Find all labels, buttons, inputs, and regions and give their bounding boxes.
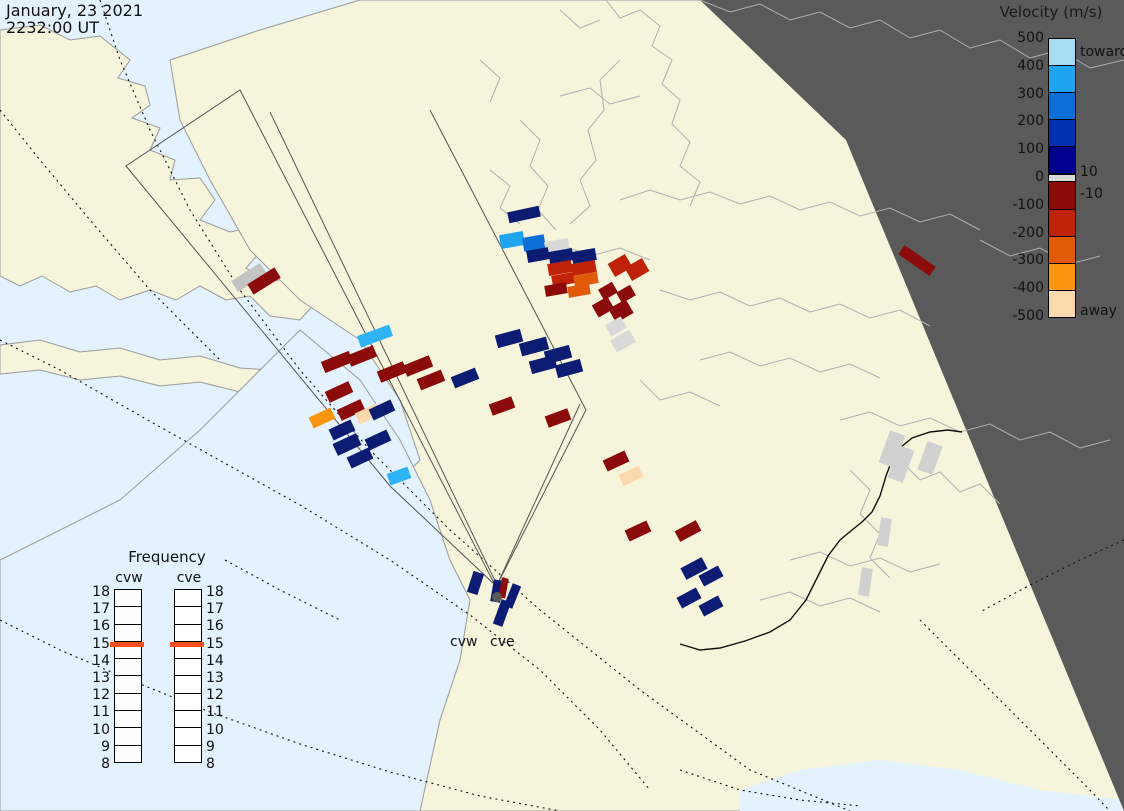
frequency-scale-cvw-10: 10 [90, 722, 110, 738]
frequency-cell [115, 590, 141, 607]
groundscatter-cell [178, 423, 217, 453]
colorbar-tick-300: 300 [986, 86, 1044, 102]
frequency-scale-cvw-11: 11 [90, 704, 110, 720]
groundscatter-cell [559, 395, 671, 436]
frequency-cell [175, 711, 201, 728]
frequency-scale-cvw-13: 13 [90, 670, 110, 686]
colorbar-plus10-label: 10 [1080, 164, 1098, 180]
frequency-scale-cve-15: 15 [206, 636, 224, 652]
frequency-cell [115, 607, 141, 624]
colorbar-tick--400: -400 [986, 280, 1044, 296]
velocity-cell [618, 466, 643, 486]
frequency-cell [175, 590, 201, 607]
velocity-cell [555, 359, 583, 378]
colorbar-segment-10 [1049, 291, 1075, 317]
frequency-bar-cve [174, 589, 202, 763]
frequency-cell [175, 728, 201, 745]
velocity-cell [325, 381, 354, 403]
groundscatter-cell [574, 538, 766, 584]
colorbar-segment-2 [1049, 93, 1075, 120]
colorbar-tick--100: -100 [986, 197, 1044, 213]
frequency-cell [175, 746, 201, 762]
timestamp-label: January, 23 2021 2232:00 UT [6, 2, 143, 36]
velocity-cell [698, 596, 723, 617]
frequency-scale-cve-12: 12 [206, 687, 224, 703]
colorbar-tick-200: 200 [986, 113, 1044, 129]
velocity-cell [877, 517, 892, 546]
frequency-cell [175, 607, 201, 624]
colorbar-segment-9 [1049, 264, 1075, 291]
colorbar-tick-0: 0 [986, 169, 1044, 185]
frequency-scale-cvw-17: 17 [90, 601, 110, 617]
frequency-scale-cve-17: 17 [206, 601, 224, 617]
frequency-column-cvw: cvw [114, 570, 144, 763]
frequency-marker-cve [170, 642, 204, 647]
velocity-cell [529, 355, 557, 374]
velocity-cell [369, 399, 396, 420]
groundscatter-cell [429, 329, 476, 359]
groundscatter-cell [758, 559, 775, 587]
velocity-cell [545, 408, 572, 427]
colorbar-segment-8 [1049, 237, 1075, 264]
frequency-cell [175, 676, 201, 693]
groundscatter-cell [714, 539, 728, 564]
colorbar-tick--200: -200 [986, 225, 1044, 241]
velocity-cell [858, 567, 873, 596]
groundscatter-cell [387, 327, 434, 357]
radar-label-cvw: cvw [450, 634, 477, 650]
radar-site-marker [492, 592, 502, 602]
frequency-scale-cvw-14: 14 [90, 653, 110, 669]
groundscatter-cell [554, 513, 771, 571]
frequency-cell [115, 728, 141, 745]
groundscatter-cell [733, 584, 748, 609]
velocity-cell [675, 520, 702, 542]
groundscatter-cell [803, 469, 821, 497]
frequency-cell [115, 746, 141, 762]
frequency-cell [115, 711, 141, 728]
groundscatter-cell [467, 544, 487, 574]
groundscatter-cell [821, 485, 839, 513]
frequency-scale-cvw-9: 9 [90, 739, 110, 755]
velocity-cell [387, 467, 412, 486]
velocity-colorbar-panel: Velocity (m/s) 5004003002001000-100-200-… [986, 0, 1124, 340]
groundscatter-cell [599, 411, 711, 459]
frequency-scale-cvw-15: 15 [90, 636, 110, 652]
groundscatter-cell [655, 606, 735, 626]
frequency-bar-cvw [114, 589, 142, 763]
velocity-cell [917, 441, 942, 475]
colorbar-segment-1 [1049, 66, 1075, 93]
frequency-cell [175, 659, 201, 676]
frequency-scale-cvw-16: 16 [90, 618, 110, 634]
groundscatter-cell [498, 544, 514, 573]
velocity-cell [625, 520, 652, 541]
frequency-cell [175, 694, 201, 711]
colorbar-tick-500: 500 [986, 30, 1044, 46]
groundscatter-cell [480, 435, 710, 520]
velocity-cell [357, 325, 393, 348]
frequency-scale-cve-11: 11 [206, 704, 224, 720]
groundscatter-cell [599, 560, 760, 597]
velocity-cell [507, 206, 541, 223]
velocity-cell [567, 283, 591, 298]
velocity-cell [499, 231, 525, 249]
groundscatter-cell [699, 515, 781, 568]
velocity-cell [451, 368, 480, 389]
velocity-cell [417, 370, 446, 391]
colorbar-title: Velocity (m/s) [986, 3, 1116, 21]
colorbar-tick-100: 100 [986, 141, 1044, 157]
frequency-cell [115, 625, 141, 642]
frequency-column-label-cve: cve [174, 570, 204, 586]
velocity-cell [526, 247, 550, 263]
groundscatter-cell [689, 480, 791, 537]
velocity-cell [365, 429, 392, 450]
frequency-marker-cvw [110, 642, 144, 647]
radar-label-cve: cve [490, 634, 515, 650]
colorbar-segment-7 [1049, 210, 1075, 237]
velocity-cell [489, 396, 516, 415]
colorbar-tick--300: -300 [986, 252, 1044, 268]
colorbar-segment-4 [1049, 147, 1075, 174]
velocity-cell [309, 407, 336, 428]
groundscatter-cell [362, 341, 539, 433]
frequency-scale-cve-9: 9 [206, 739, 215, 755]
colorbar-segment-5 [1049, 174, 1075, 182]
frequency-cell [115, 694, 141, 711]
frequency-scale-cvw-8: 8 [90, 756, 110, 772]
colorbar-tick--500: -500 [986, 308, 1044, 324]
groundscatter-cell [659, 454, 771, 511]
colorbar-tick-400: 400 [986, 58, 1044, 74]
frequency-scale-cvw-18: 18 [90, 584, 110, 600]
colorbar-segment-6 [1049, 182, 1075, 209]
frequency-scale-cve-13: 13 [206, 670, 224, 686]
groundscatter-cell [450, 410, 670, 499]
colorbar-minus10-label: -10 [1080, 186, 1103, 202]
frequency-column-cve: cve [174, 570, 204, 763]
frequency-scale-cve-14: 14 [206, 653, 224, 669]
velocity-cell [898, 245, 935, 276]
frequency-title: Frequency [92, 548, 242, 566]
superdarn-map: January, 23 2021 2232:00 UT Velocity (m/… [0, 0, 1124, 811]
frequency-scale-cve-16: 16 [206, 618, 224, 634]
groundscatter-cell [516, 579, 538, 615]
frequency-cell [175, 625, 201, 642]
colorbar-segment-0 [1049, 39, 1075, 66]
colorbar-toward-label: toward [1080, 44, 1124, 60]
groundscatter-cell [529, 376, 631, 418]
groundscatter-cell [420, 388, 619, 478]
frequency-cell [115, 676, 141, 693]
frequency-scale-cve-18: 18 [206, 584, 224, 600]
frequency-cell [115, 659, 141, 676]
groundscatter-cell [383, 415, 547, 509]
velocity-cell [544, 282, 568, 297]
frequency-column-label-cvw: cvw [114, 570, 144, 586]
velocity-cell [603, 450, 630, 471]
frequency-scale-cvw-12: 12 [90, 687, 110, 703]
frequency-scale-cve-8: 8 [206, 756, 215, 772]
colorbar-segment-3 [1049, 120, 1075, 147]
colorbar-gradient [1048, 38, 1076, 318]
colorbar-away-label: away [1080, 303, 1117, 319]
velocity-cell [347, 345, 377, 367]
frequency-legend: Frequency cvw18171615141312111098cve1817… [92, 548, 242, 788]
groundscatter-cell [629, 431, 741, 482]
velocity-cell [467, 571, 484, 595]
groundscatter-cell [208, 449, 242, 476]
frequency-scale-cve-10: 10 [206, 722, 224, 738]
